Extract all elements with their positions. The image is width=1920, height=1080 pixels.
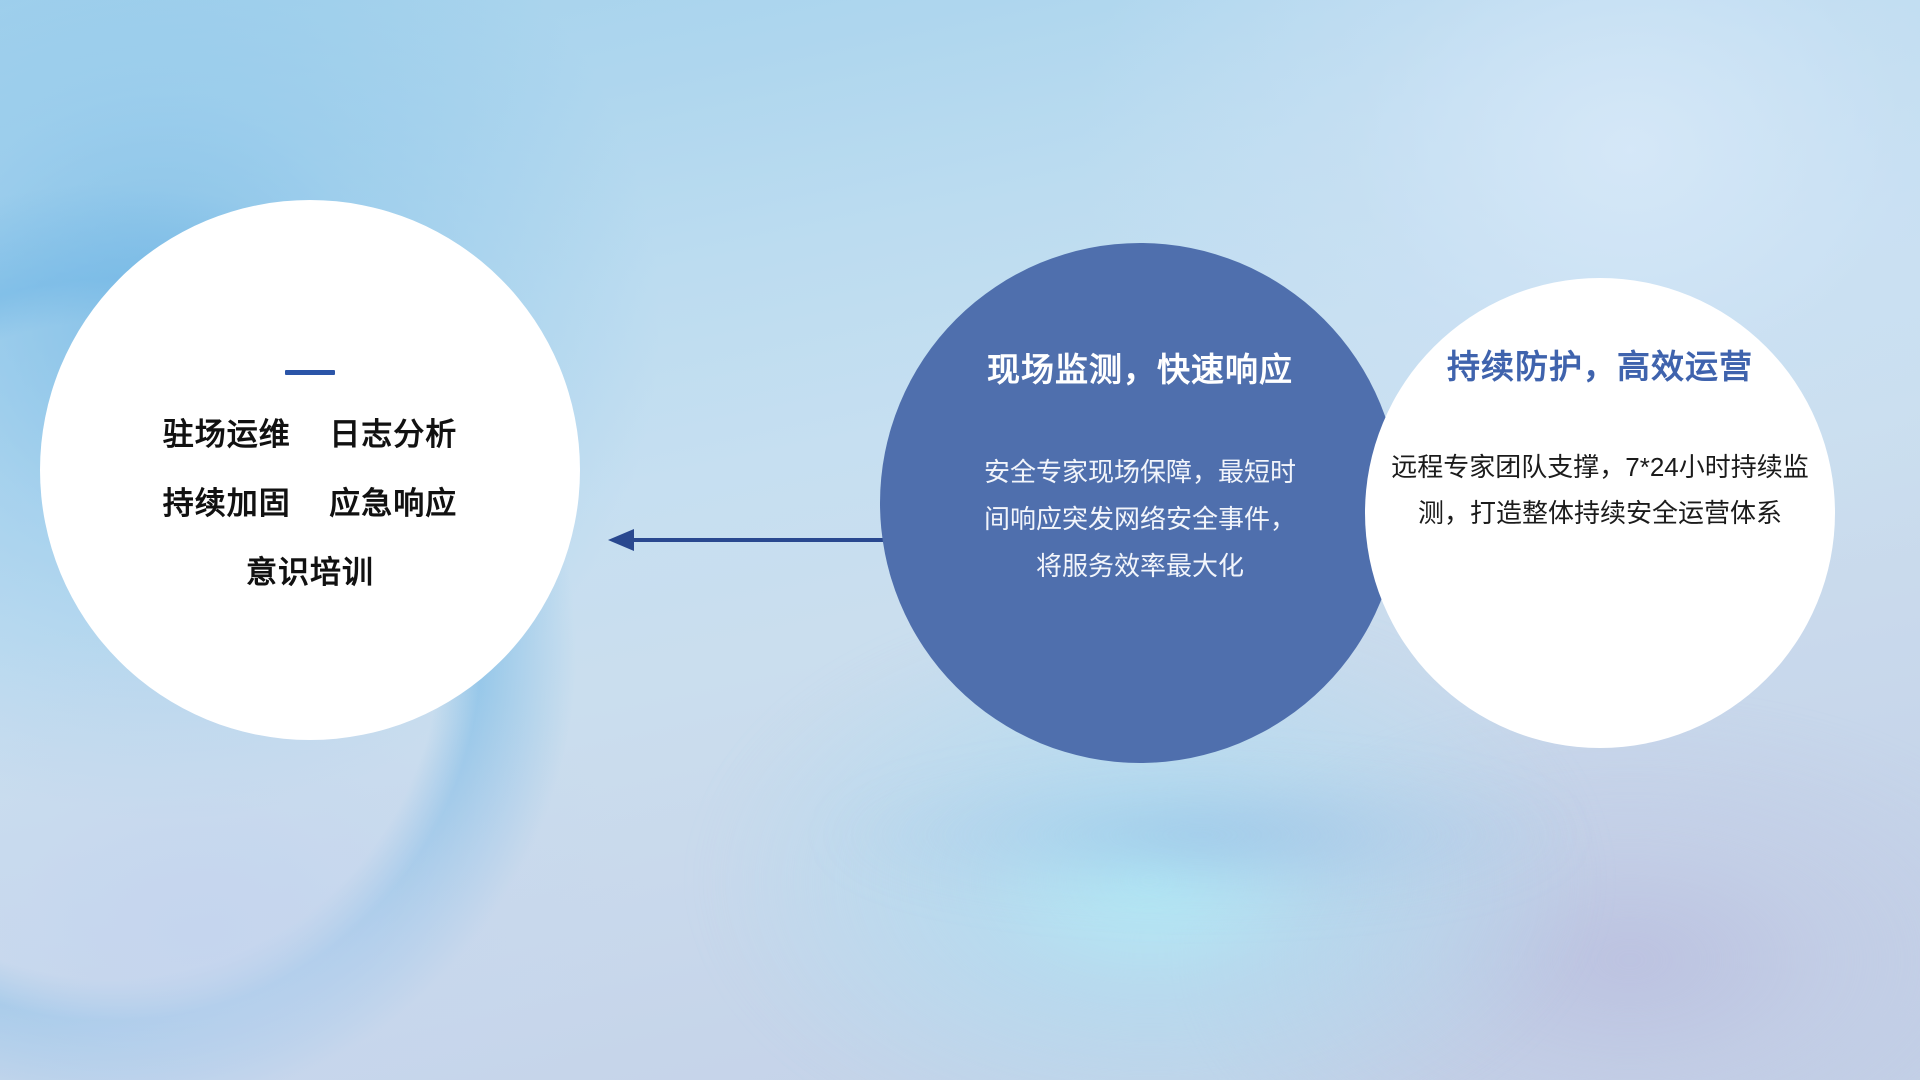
capability-line-1: 驻场运维 日志分析 — [163, 419, 457, 450]
flow-arrow-icon — [600, 520, 900, 560]
capabilities-circle[interactable]: 驻场运维 日志分析 持续加固 应急响应 意识培训 — [40, 200, 580, 740]
background-streak — [820, 760, 1580, 910]
continuous-operation-body: 远程专家团队支撑，7*24小时持续监测，打造整体持续安全运营体系 — [1390, 444, 1810, 536]
capability-line-3: 意识培训 — [246, 557, 374, 588]
continuous-operation-title: 持续防护，高效运营 — [1447, 340, 1753, 388]
continuous-operation-circle[interactable]: 持续防护，高效运营 远程专家团队支撑，7*24小时持续监测，打造整体持续安全运营… — [1365, 278, 1835, 748]
onsite-monitoring-circle[interactable]: 现场监测，快速响应 安全专家现场保障，最短时间响应突发网络安全事件，将服务效率最… — [880, 243, 1400, 763]
capability-line-2: 持续加固 应急响应 — [163, 488, 457, 519]
slide-canvas: 驻场运维 日志分析 持续加固 应急响应 意识培训 现场监测，快速响应 安全专家现… — [0, 0, 1920, 1080]
onsite-monitoring-body: 安全专家现场保障，最短时间响应突发网络安全事件，将服务效率最大化 — [975, 449, 1305, 590]
onsite-monitoring-title: 现场监测，快速响应 — [987, 343, 1293, 391]
divider-dash-icon — [285, 370, 335, 375]
